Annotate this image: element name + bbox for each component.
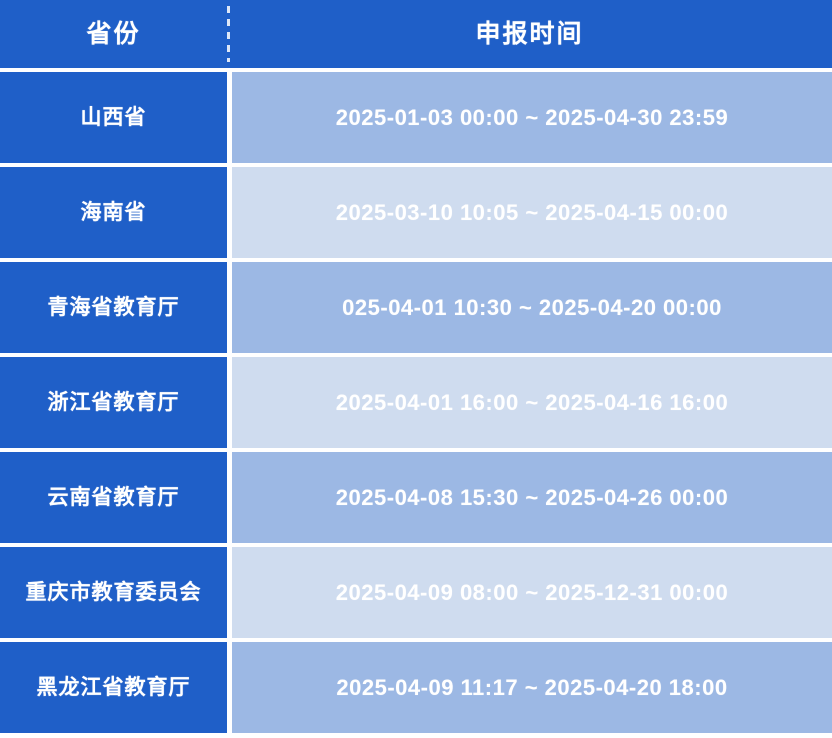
province-label: 海南省: [81, 202, 147, 223]
declaration-time-label: 2025-03-10 10:05 ~ 2025-04-15 00:00: [336, 202, 728, 224]
cell-declaration-time: 2025-04-01 16:00 ~ 2025-04-16 16:00: [232, 357, 832, 448]
cell-province: 黑龙江省教育厅: [0, 642, 227, 733]
cell-province: 青海省教育厅: [0, 262, 227, 353]
cell-declaration-time: 2025-01-03 00:00 ~ 2025-04-30 23:59: [232, 72, 832, 163]
header-dashed-divider: [227, 6, 230, 62]
declaration-time-label: 2025-04-09 11:17 ~ 2025-04-20 18:00: [336, 677, 727, 699]
cell-province: 山西省: [0, 72, 227, 163]
table-body: 山西省2025-01-03 00:00 ~ 2025-04-30 23:59海南…: [0, 68, 832, 733]
table-row[interactable]: 山西省2025-01-03 00:00 ~ 2025-04-30 23:59: [0, 72, 832, 163]
province-label: 黑龙江省教育厅: [37, 677, 191, 698]
cell-province: 浙江省教育厅: [0, 357, 227, 448]
table-row[interactable]: 重庆市教育委员会2025-04-09 08:00 ~ 2025-12-31 00…: [0, 547, 832, 638]
cell-declaration-time: 2025-04-08 15:30 ~ 2025-04-26 00:00: [232, 452, 832, 543]
province-label: 重庆市教育委员会: [26, 582, 202, 603]
table-row[interactable]: 黑龙江省教育厅2025-04-09 11:17 ~ 2025-04-20 18:…: [0, 642, 832, 733]
declaration-time-label: 2025-04-09 08:00 ~ 2025-12-31 00:00: [336, 582, 728, 604]
province-label: 青海省教育厅: [48, 297, 180, 318]
cell-province: 重庆市教育委员会: [0, 547, 227, 638]
declaration-time-label: 025-04-01 10:30 ~ 2025-04-20 00:00: [342, 297, 722, 319]
table-row[interactable]: 浙江省教育厅2025-04-01 16:00 ~ 2025-04-16 16:0…: [0, 357, 832, 448]
province-label: 浙江省教育厅: [48, 392, 180, 413]
table-row[interactable]: 海南省2025-03-10 10:05 ~ 2025-04-15 00:00: [0, 167, 832, 258]
cell-declaration-time: 025-04-01 10:30 ~ 2025-04-20 00:00: [232, 262, 832, 353]
declaration-time-label: 2025-01-03 00:00 ~ 2025-04-30 23:59: [336, 107, 728, 129]
cell-declaration-time: 2025-04-09 11:17 ~ 2025-04-20 18:00: [232, 642, 832, 733]
province-label: 云南省教育厅: [48, 487, 180, 508]
header-label-province: 省份: [86, 22, 140, 47]
province-label: 山西省: [81, 107, 147, 128]
cell-province: 海南省: [0, 167, 227, 258]
header-label-time: 申报时间: [475, 22, 583, 47]
declaration-time-label: 2025-04-01 16:00 ~ 2025-04-16 16:00: [336, 392, 728, 414]
declaration-schedule-table: 省份 申报时间 山西省2025-01-03 00:00 ~ 2025-04-30…: [0, 0, 832, 734]
table-row[interactable]: 青海省教育厅025-04-01 10:30 ~ 2025-04-20 00:00: [0, 262, 832, 353]
table-header-row: 省份 申报时间: [0, 0, 832, 68]
cell-declaration-time: 2025-03-10 10:05 ~ 2025-04-15 00:00: [232, 167, 832, 258]
cell-province: 云南省教育厅: [0, 452, 227, 543]
header-cell-province: 省份: [0, 0, 227, 68]
header-cell-time: 申报时间: [227, 0, 832, 68]
table-row[interactable]: 云南省教育厅2025-04-08 15:30 ~ 2025-04-26 00:0…: [0, 452, 832, 543]
cell-declaration-time: 2025-04-09 08:00 ~ 2025-12-31 00:00: [232, 547, 832, 638]
declaration-time-label: 2025-04-08 15:30 ~ 2025-04-26 00:00: [336, 487, 728, 509]
